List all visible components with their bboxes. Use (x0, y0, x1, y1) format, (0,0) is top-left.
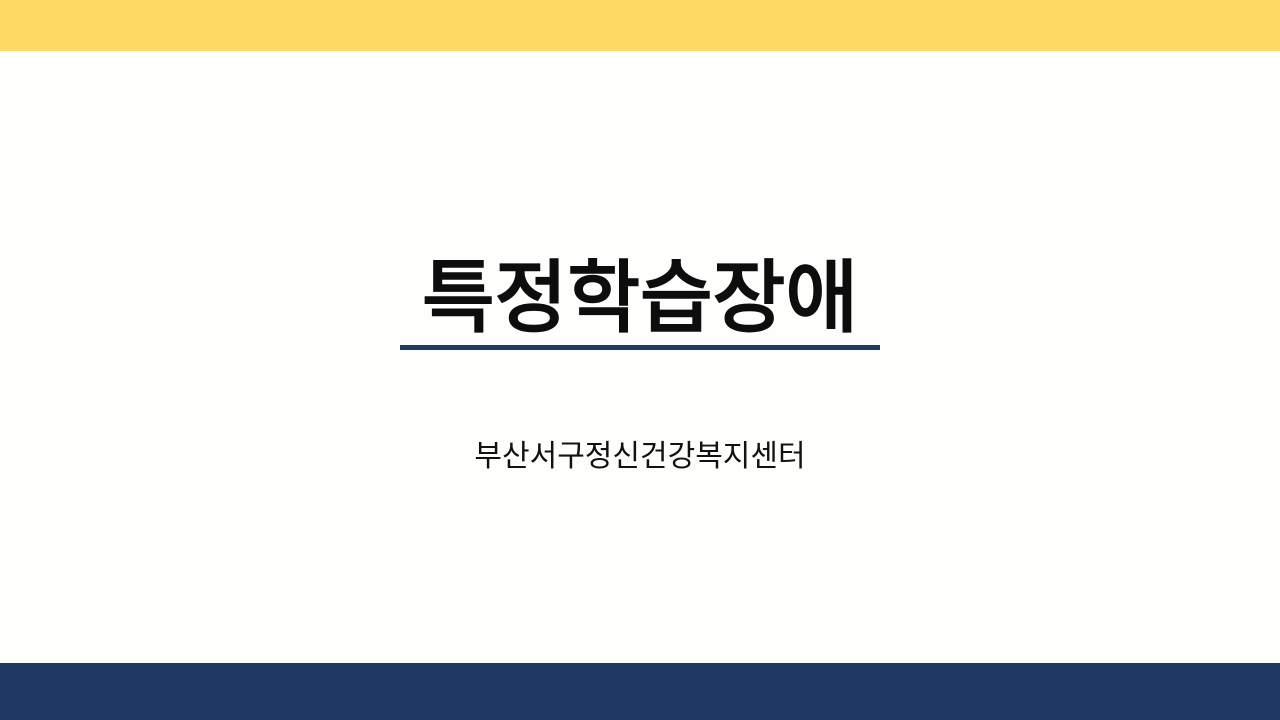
page-title: 특정학습장애 (400, 258, 880, 350)
slide-subtitle: 부산서구정신건강복지센터 (0, 438, 1280, 476)
subtitle-container: 부산서구정신건강복지센터 (0, 438, 1280, 476)
title-container: 특정학습장애 (0, 258, 1280, 350)
top-accent-bar (0, 0, 1280, 51)
bottom-accent-bar (0, 663, 1280, 720)
title-slide: 특정학습장애 부산서구정신건강복지센터 (0, 0, 1280, 720)
